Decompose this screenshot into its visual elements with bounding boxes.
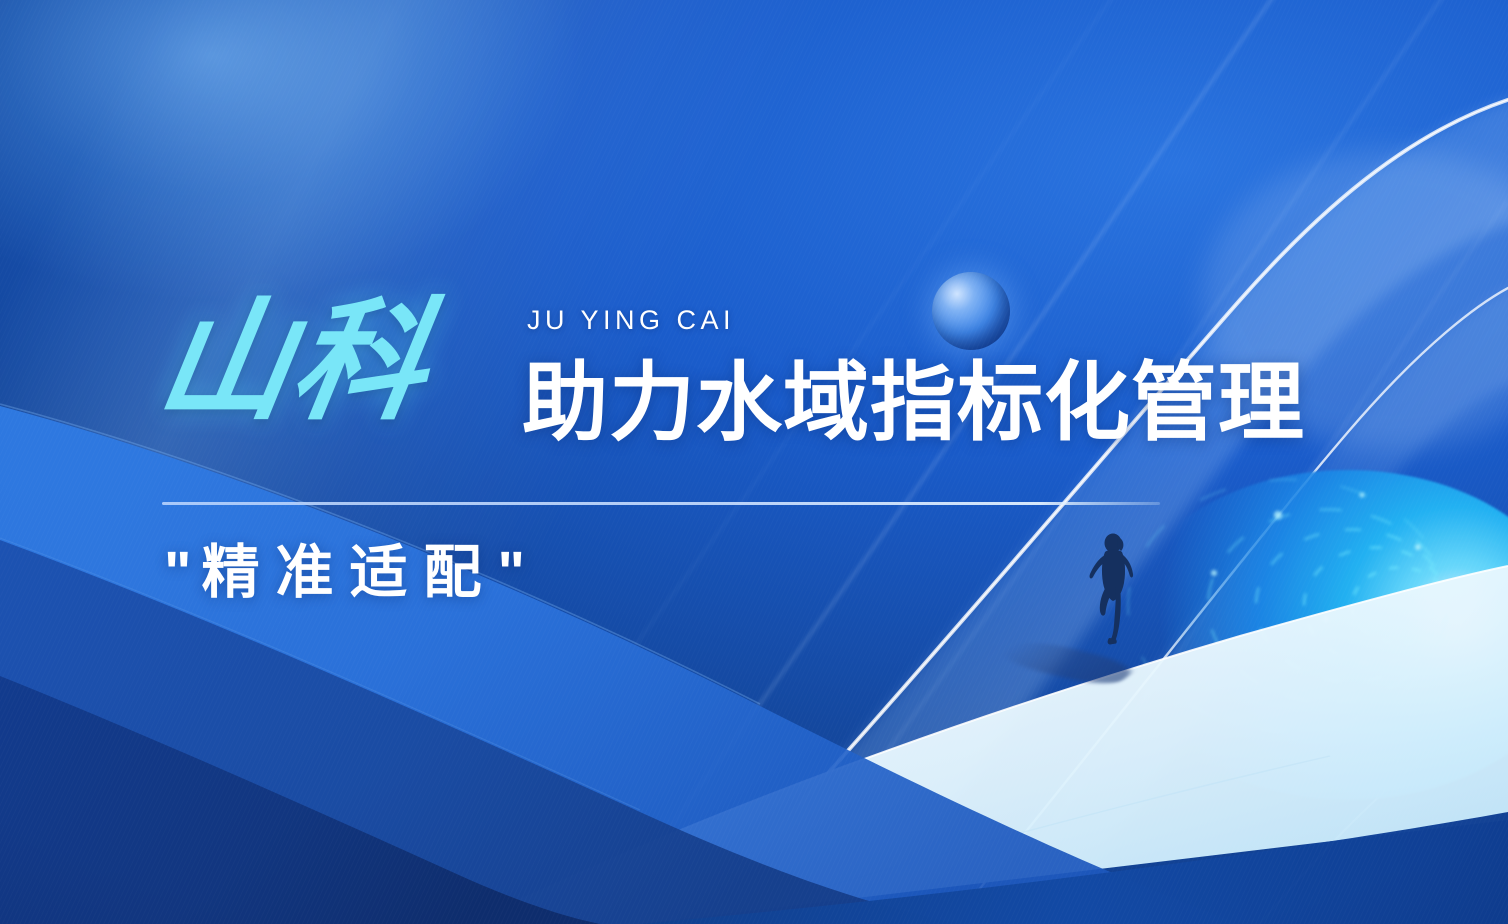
tagline-open-quote: " xyxy=(164,540,202,605)
tagline-group: "精准适配" xyxy=(164,541,535,605)
pinyin-label: JU YING CAI xyxy=(527,305,735,336)
headline-text: 助力水域指标化管理 xyxy=(522,358,1305,448)
brand-logo-text: 山科 xyxy=(150,296,439,428)
tagline-close-quote: " xyxy=(498,540,536,605)
divider-line xyxy=(162,502,1160,505)
text-content: 山科 JU YING CAI 助力水域指标化管理 "精准适配" xyxy=(0,0,1508,924)
tagline-text: 精准适配 xyxy=(202,540,498,605)
promo-banner: 山科 JU YING CAI 助力水域指标化管理 "精准适配" xyxy=(0,0,1508,924)
